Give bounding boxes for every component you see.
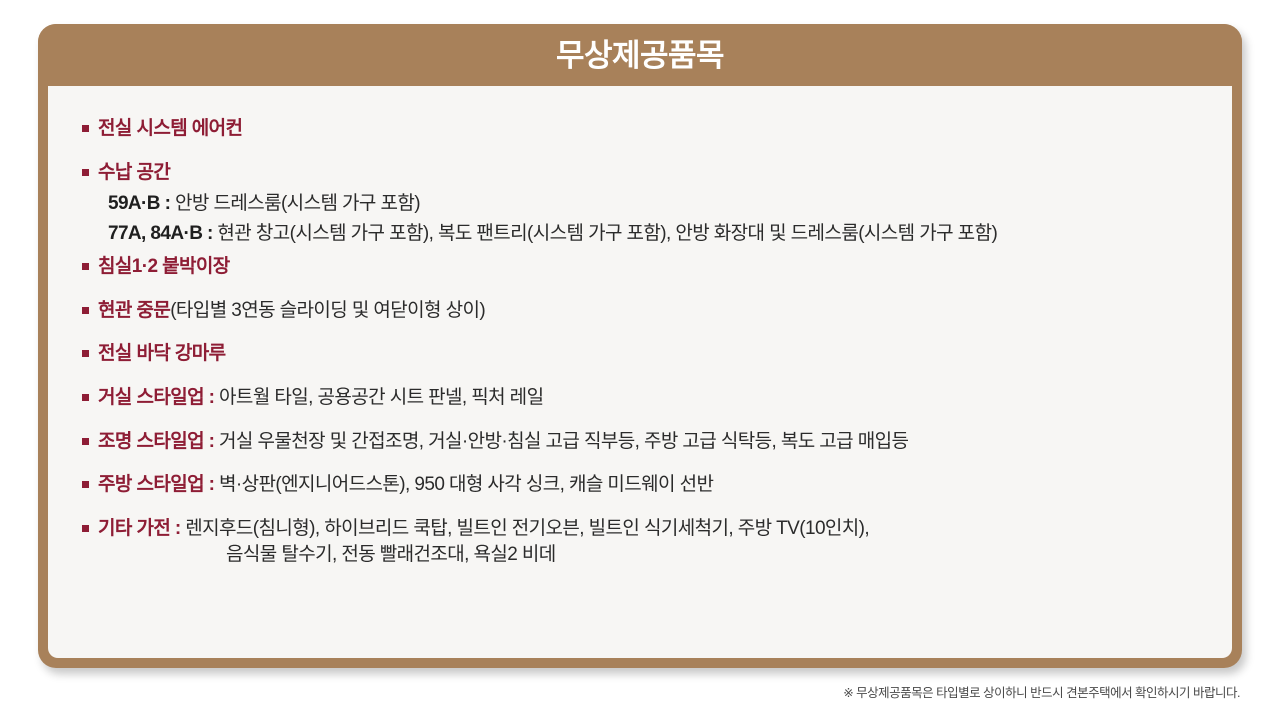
list-item: 조명 스타일업 : 거실 우물천장 및 간접조명, 거실·안방·침실 고급 직부… (74, 429, 1206, 455)
list-item-heading: 수납 공간 (98, 162, 170, 183)
card-header: 무상제공품목 (38, 24, 1242, 86)
list-item-detail: 벽·상판(엔지니어드스톤), 950 대형 사각 싱크, 캐슬 미드웨이 선반 (214, 474, 713, 495)
subrow-value: 현관 창고(시스템 가구 포함), 복도 팬트리(시스템 가구 포함), 안방 … (217, 223, 997, 244)
page-title: 무상제공품목 (556, 40, 724, 71)
list-item-heading: 전실 시스템 에어컨 (98, 118, 242, 139)
list-item-heading: 거실 스타일업 : (98, 387, 214, 408)
subrow-type-label: 77A, 84A·B : (108, 223, 213, 244)
list-item-detail: (타입별 3연동 슬라이딩 및 여닫이형 상이) (170, 300, 485, 321)
square-bullet-icon (82, 438, 89, 445)
square-bullet-icon (82, 125, 89, 132)
storage-subrow-list: 59A·B : 안방 드레스룸(시스템 가구 포함) 77A, 84A·B : … (98, 189, 1206, 248)
list-item-heading: 침실1·2 붙박이장 (98, 256, 230, 277)
list-item-heading: 조명 스타일업 : (98, 431, 214, 452)
subrow-type-label: 59A·B : (108, 193, 170, 214)
list-item: 거실 스타일업 : 아트월 타일, 공용공간 시트 판넬, 픽처 레일 (74, 385, 1206, 411)
list-item-heading: 전실 바닥 강마루 (98, 343, 226, 364)
list-item: 현관 중문(타입별 3연동 슬라이딩 및 여닫이형 상이) (74, 298, 1206, 324)
card-body: 전실 시스템 에어컨 수납 공간 59A·B : 안방 드레스룸(시스템 가구 … (48, 86, 1232, 658)
footnote-text: ※ 무상제공품목은 타입별로 상이하니 반드시 견본주택에서 확인하시기 바랍니… (843, 682, 1240, 701)
square-bullet-icon (82, 350, 89, 357)
list-item: 전실 바닥 강마루 (74, 341, 1206, 367)
square-bullet-icon (82, 169, 89, 176)
list-item-heading: 주방 스타일업 : (98, 474, 214, 495)
list-item-detail: 거실 우물천장 및 간접조명, 거실·안방·침실 고급 직부등, 주방 고급 식… (214, 431, 908, 452)
list-item-heading: 현관 중문 (98, 300, 170, 321)
square-bullet-icon (82, 481, 89, 488)
square-bullet-icon (82, 307, 89, 314)
list-item-heading: 기타 가전 : (98, 518, 181, 539)
list-item-detail: 렌지후드(침니형), 하이브리드 쿡탑, 빌트인 전기오븐, 빌트인 식기세척기… (181, 518, 869, 539)
square-bullet-icon (82, 263, 89, 270)
provision-item-list: 전실 시스템 에어컨 수납 공간 59A·B : 안방 드레스룸(시스템 가구 … (74, 116, 1206, 567)
square-bullet-icon (82, 525, 89, 532)
list-item-line-1: 기타 가전 : 렌지후드(침니형), 하이브리드 쿡탑, 빌트인 전기오븐, 빌… (98, 516, 1206, 542)
list-item: 59A·B : 안방 드레스룸(시스템 가구 포함) (108, 189, 1206, 218)
list-item: 전실 시스템 에어컨 (74, 116, 1206, 142)
subrow-value: 안방 드레스룸(시스템 가구 포함) (175, 193, 420, 214)
list-item: 기타 가전 : 렌지후드(침니형), 하이브리드 쿡탑, 빌트인 전기오븐, 빌… (74, 516, 1206, 567)
square-bullet-icon (82, 394, 89, 401)
list-item: 침실1·2 붙박이장 (74, 254, 1206, 280)
list-item: 77A, 84A·B : 현관 창고(시스템 가구 포함), 복도 팬트리(시스… (108, 219, 1206, 248)
list-item: 수납 공간 59A·B : 안방 드레스룸(시스템 가구 포함) 77A, 84… (74, 160, 1206, 249)
list-item: 주방 스타일업 : 벽·상판(엔지니어드스톤), 950 대형 사각 싱크, 캐… (74, 472, 1206, 498)
free-provision-card: 무상제공품목 전실 시스템 에어컨 수납 공간 59A·B : 안방 드레스룸(… (38, 24, 1242, 668)
list-item-line-2: 음식물 탈수기, 전동 빨래건조대, 욕실2 비데 (98, 542, 1206, 568)
list-item-detail: 아트월 타일, 공용공간 시트 판넬, 픽처 레일 (214, 387, 543, 408)
page-root: 무상제공품목 전실 시스템 에어컨 수납 공간 59A·B : 안방 드레스룸(… (0, 0, 1280, 720)
